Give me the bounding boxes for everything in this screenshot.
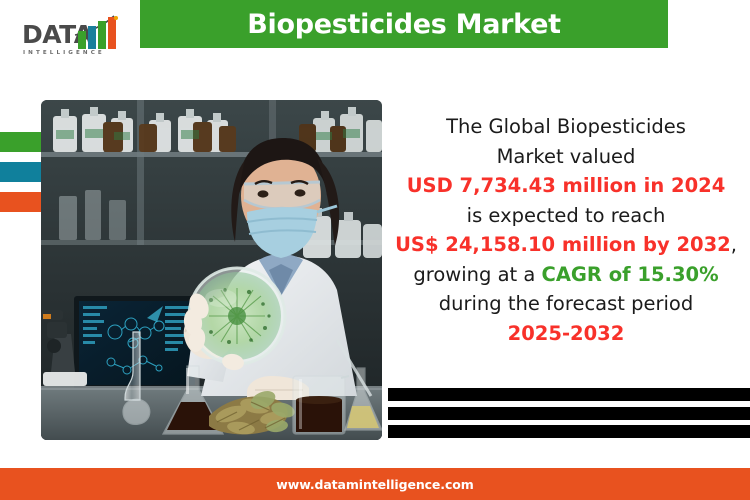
forecast-value-comma: ,: [731, 233, 737, 256]
copy-line-2: Market valued: [392, 142, 740, 172]
forecast-value-line: US$ 24,158.10 million by 2032,: [392, 230, 740, 260]
forecast-value-highlight: US$ 24,158.10 million by 2032: [395, 233, 731, 256]
logo-bar-2: [88, 26, 96, 49]
lab-scientist-photo: [41, 100, 382, 440]
decor-stripe-2: [388, 407, 750, 420]
decor-stripe-3: [388, 425, 750, 438]
decor-stripe-1: [388, 388, 750, 401]
title-banner: Biopesticides Market: [140, 0, 668, 48]
copy-line-1: The Global Biopesticides: [392, 112, 740, 142]
market-summary-copy: The Global Biopesticides Market valued U…: [392, 112, 740, 348]
logo-bar-3: [98, 21, 106, 49]
brand-logo[interactable]: DATA INTELLIGENCE: [22, 14, 118, 62]
forecast-period-highlight: 2025-2032: [392, 319, 740, 349]
base-value-highlight: USD 7,734.43 million in 2024: [392, 171, 740, 201]
infographic-root: DATA INTELLIGENCE Biopesticides Market: [0, 0, 750, 500]
logo-bar-4: [108, 17, 116, 49]
cagr-line: growing at a CAGR of 15.30%: [392, 260, 740, 290]
accent-bar-orange: [0, 192, 41, 212]
logo-accent-dot-icon: [114, 16, 118, 20]
page-title: Biopesticides Market: [247, 9, 560, 40]
cagr-lead-text: growing at a: [413, 263, 541, 286]
copy-line-4: is expected to reach: [392, 201, 740, 231]
accent-bar-green: [0, 132, 41, 152]
bar-chart-growth-icon: [78, 17, 118, 49]
accent-bar-teal: [0, 162, 41, 182]
copy-line-7: during the forecast period: [392, 289, 740, 319]
logo-bar-1: [78, 31, 86, 49]
logo-tagline: INTELLIGENCE: [23, 50, 105, 56]
cagr-highlight: CAGR of 15.30%: [542, 263, 719, 286]
photo-illustration: [41, 100, 382, 440]
footer-url[interactable]: www.datamintelligence.com: [276, 477, 473, 492]
footer-bar: www.datamintelligence.com: [0, 468, 750, 500]
